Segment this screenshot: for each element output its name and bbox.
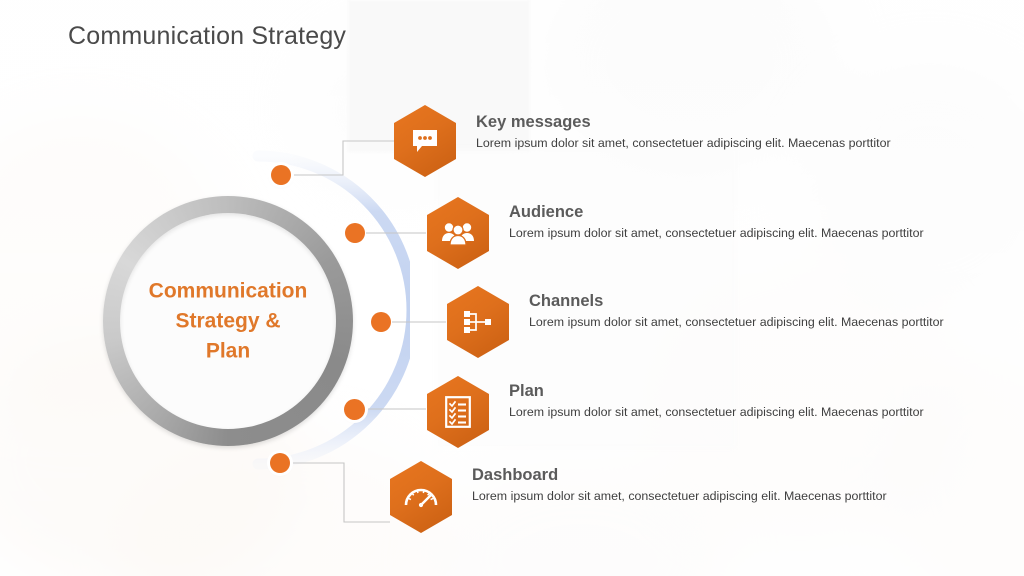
center-label-line-1: Communication — [133, 276, 323, 306]
item-title-channels: Channels — [529, 292, 949, 311]
network-hierarchy-icon — [447, 286, 509, 358]
item-desc-dashboard: Lorem ipsum dolor sit amet, consectetuer… — [472, 487, 892, 506]
item-desc-plan: Lorem ipsum dolor sit amet, consectetuer… — [509, 403, 929, 422]
arc-dot-key-messages[interactable] — [271, 165, 291, 185]
slide-canvas: Communication Strategy Commu — [0, 0, 1024, 576]
item-title-dashboard: Dashboard — [472, 466, 892, 485]
item-title-audience: Audience — [509, 203, 929, 222]
arc-dot-plan[interactable] — [344, 399, 365, 420]
hex-key-messages[interactable] — [394, 105, 456, 177]
arc-dot-audience[interactable] — [345, 223, 365, 243]
hex-audience[interactable] — [427, 197, 489, 269]
center-ring: Communication Strategy & Plan — [103, 196, 353, 446]
item-title-plan: Plan — [509, 382, 929, 401]
people-group-icon — [427, 197, 489, 269]
item-desc-key-messages: Lorem ipsum dolor sit amet, consectetuer… — [476, 134, 896, 153]
arc-dot-dashboard[interactable] — [270, 453, 290, 473]
hex-dashboard[interactable] — [390, 461, 452, 533]
arc-dot-channels[interactable] — [371, 312, 391, 332]
hex-channels[interactable] — [447, 286, 509, 358]
checklist-clipboard-icon — [427, 376, 489, 448]
gauge-icon — [390, 461, 452, 533]
item-desc-audience: Lorem ipsum dolor sit amet, consectetuer… — [509, 224, 929, 243]
center-label: Communication Strategy & Plan — [133, 276, 323, 365]
item-title-key-messages: Key messages — [476, 113, 896, 132]
center-label-line-2: Strategy & — [133, 306, 323, 336]
center-label-line-3: Plan — [133, 336, 323, 366]
chat-bubble-icon — [394, 105, 456, 177]
page-title: Communication Strategy — [68, 22, 346, 51]
hex-plan[interactable] — [427, 376, 489, 448]
item-desc-channels: Lorem ipsum dolor sit amet, consectetuer… — [529, 313, 949, 332]
